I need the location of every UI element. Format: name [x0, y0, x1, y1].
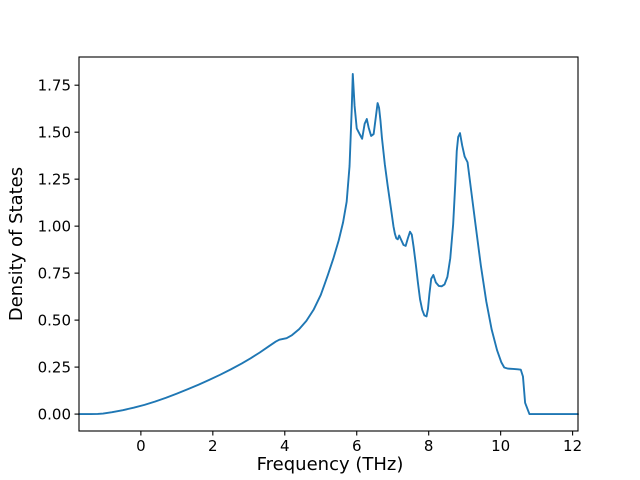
y-tick-label: 0.25	[38, 359, 71, 377]
x-axis-ticks: 024681012	[136, 431, 582, 455]
y-tick-label: 0.50	[38, 312, 71, 330]
y-tick-label: 1.50	[38, 124, 71, 142]
x-tick-label: 6	[352, 437, 362, 455]
y-tick-label: 1.25	[38, 171, 71, 189]
y-tick-label: 0.00	[38, 406, 71, 424]
plot-background	[79, 57, 578, 431]
y-tick-label: 0.75	[38, 265, 71, 283]
matplotlib-figure: 024681012 0.000.250.500.751.001.251.501.…	[0, 0, 640, 480]
x-tick-label: 10	[491, 437, 510, 455]
x-tick-label: 2	[208, 437, 218, 455]
x-tick-label: 12	[563, 437, 582, 455]
x-tick-label: 4	[280, 437, 290, 455]
y-tick-label: 1.00	[38, 218, 71, 236]
y-axis-label: Density of States	[6, 167, 27, 321]
x-tick-label: 0	[136, 437, 146, 455]
y-tick-label: 1.75	[38, 77, 71, 95]
density-of-states-plot: 024681012 0.000.250.500.751.001.251.501.…	[0, 0, 640, 480]
x-tick-label: 8	[424, 437, 434, 455]
axes-patch	[79, 57, 578, 431]
y-axis-ticks: 0.000.250.500.751.001.251.501.75	[38, 77, 79, 424]
x-axis-label: Frequency (THz)	[257, 454, 404, 475]
